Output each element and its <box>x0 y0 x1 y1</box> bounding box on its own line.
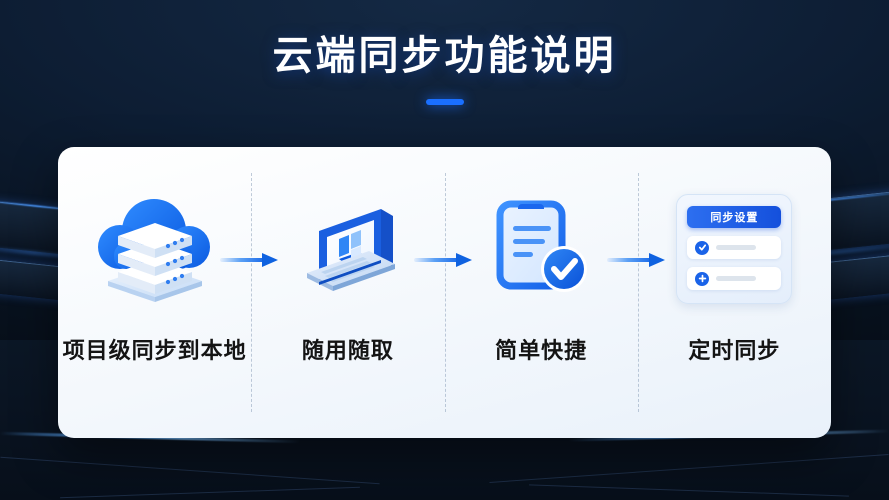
sync-settings-header-label: 同步设置 <box>710 209 758 225</box>
flow-step-2: 随用随取 <box>251 147 444 438</box>
plus-circle-icon <box>695 272 709 286</box>
laptop-icon <box>278 191 418 307</box>
document-check-icon <box>471 191 611 307</box>
flow-step-1-label: 项目级同步到本地 <box>63 333 247 365</box>
flow-step-4-label: 定时同步 <box>688 333 780 365</box>
cloud-server-icon <box>85 191 225 307</box>
flow-step-3: 简单快捷 <box>445 147 638 438</box>
flow-step-4: 同步设置 定时同步 <box>638 147 831 438</box>
header: 云端同步功能说明 <box>0 0 889 105</box>
sync-settings-panel-icon: 同步设置 <box>672 191 796 307</box>
flow-step-1: 项目级同步到本地 <box>58 147 251 438</box>
row-placeholder-bar <box>716 245 756 250</box>
sync-settings-row[interactable] <box>687 267 781 290</box>
sync-settings-card: 同步设置 <box>676 194 792 304</box>
row-placeholder-bar <box>716 276 756 281</box>
flow-step-2-label: 随用随取 <box>302 333 394 365</box>
title-accent-bar <box>426 99 464 105</box>
sync-settings-row[interactable] <box>687 236 781 259</box>
feature-flow-panel: 项目级同步到本地 <box>58 147 831 438</box>
check-circle-icon <box>695 241 709 255</box>
page-title: 云端同步功能说明 <box>0 34 889 78</box>
sync-settings-header[interactable]: 同步设置 <box>687 206 781 228</box>
flow-step-3-label: 简单快捷 <box>495 333 587 365</box>
